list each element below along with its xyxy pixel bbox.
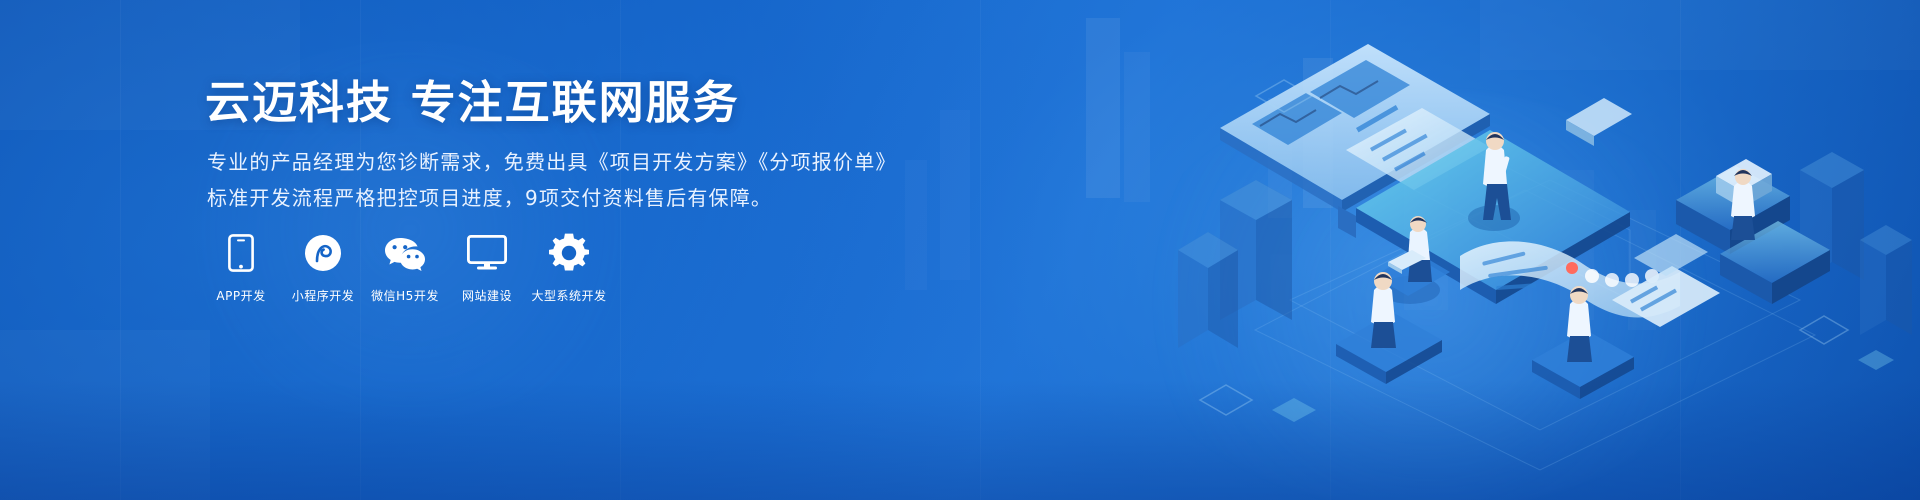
service-list: APP开发 小程序开发 <box>205 232 615 304</box>
monitor-icon <box>467 232 507 274</box>
service-label-website: 网站建设 <box>462 287 512 304</box>
banner-content: 云迈科技 专注互联网服务 专业的产品经理为您诊断需求，免费出具《项目开发方案》《… <box>205 0 965 500</box>
subtitle-line-1: 专业的产品经理为您诊断需求，免费出具《项目开发方案》《分项报价单》 <box>207 147 897 177</box>
service-label-mini-program: 小程序开发 <box>292 287 355 304</box>
mobile-phone-icon <box>228 232 254 274</box>
gear-icon <box>549 232 589 274</box>
service-item-website[interactable]: 网站建设 <box>451 232 523 304</box>
hero-banner: 云迈科技 专注互联网服务 专业的产品经理为您诊断需求，免费出具《项目开发方案》《… <box>0 0 1920 500</box>
wechat-icon <box>383 232 427 274</box>
service-label-wechat-h5: 微信H5开发 <box>371 287 439 304</box>
isometric-illustration <box>1160 0 1920 500</box>
subtitle-line-2: 标准开发流程严格把控项目进度，9项交付资料售后有保障。 <box>207 183 772 213</box>
service-item-mini-program[interactable]: 小程序开发 <box>287 232 359 304</box>
service-label-system: 大型系统开发 <box>532 287 607 304</box>
mini-program-icon <box>304 232 342 274</box>
service-item-app[interactable]: APP开发 <box>205 232 277 304</box>
service-item-wechat-h5[interactable]: 微信H5开发 <box>369 232 441 304</box>
service-label-app: APP开发 <box>216 287 265 304</box>
service-item-system[interactable]: 大型系统开发 <box>533 232 605 304</box>
page-title: 云迈科技 专注互联网服务 <box>205 78 740 128</box>
